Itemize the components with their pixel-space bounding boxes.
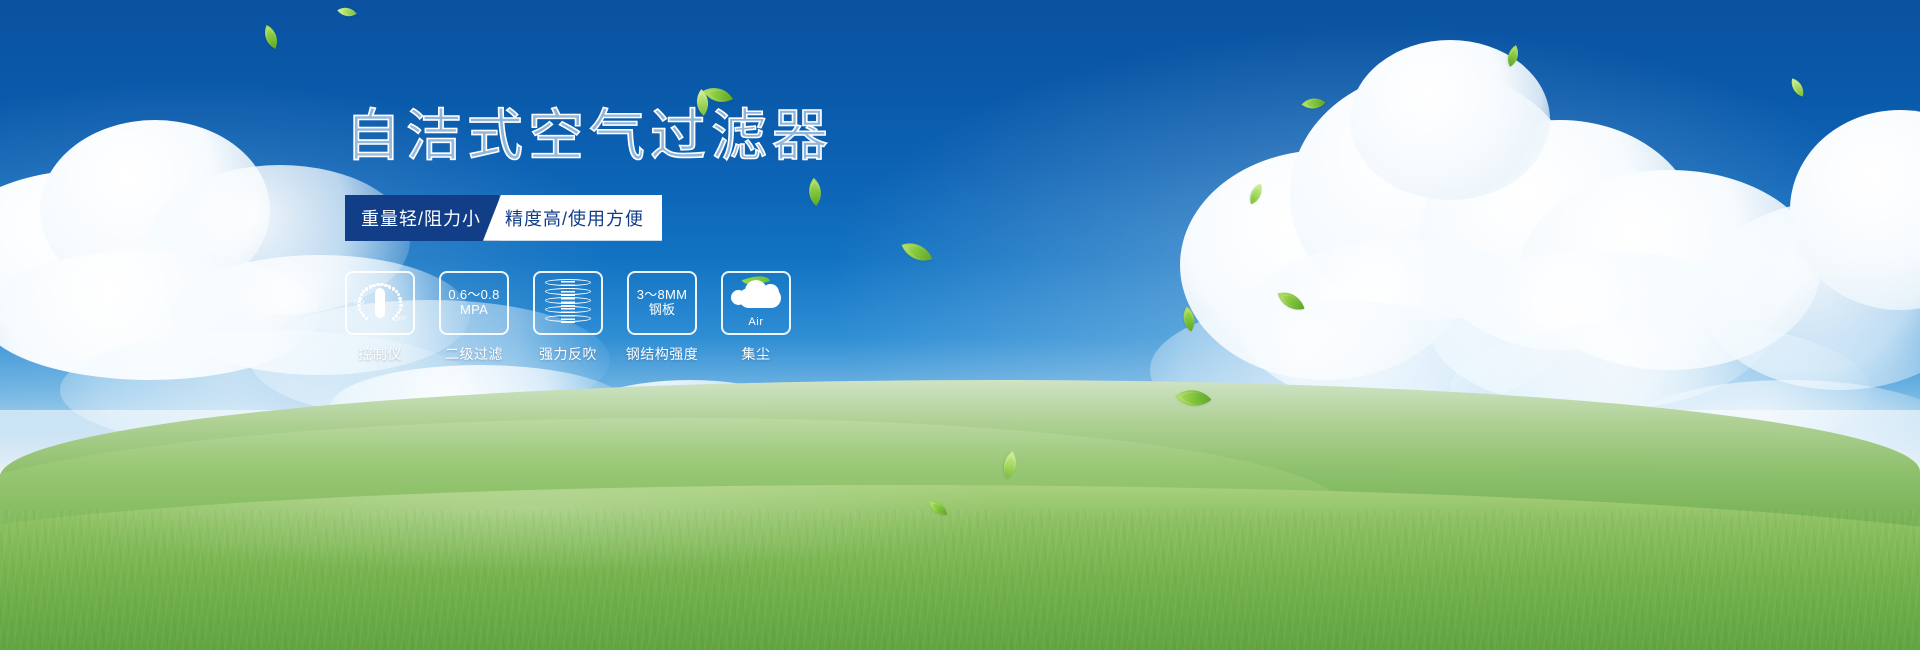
gauge-tick-dot <box>399 304 402 307</box>
pressure-unit: MPA <box>460 303 488 318</box>
feature-item-dust[interactable]: Air 集尘 <box>721 271 791 364</box>
cloud-notch-icon <box>749 284 758 293</box>
feature-label-control: 控制仪 <box>358 344 402 364</box>
grass-texture <box>0 510 1920 650</box>
gauge-tick-dot <box>388 285 391 288</box>
gauge-tick-dot <box>397 293 400 296</box>
air-cloud-icon <box>729 278 783 314</box>
feature-item-control[interactable]: NO OFF 控制仪 <box>345 271 415 364</box>
hero-banner: 自洁式空气过滤器 重量轻/阻力小 精度高/使用方便 NO OFF 控制仪 <box>0 0 1920 650</box>
feature-box-pressure: 0.6～0.8 MPA <box>439 271 509 335</box>
feature-label-dust: 集尘 <box>742 344 771 364</box>
gauge-tick-dot <box>369 285 372 288</box>
air-label: Air <box>748 316 763 328</box>
steel-material: 钢板 <box>649 303 676 318</box>
feature-item-steel[interactable]: 3～8MM 钢板 钢结构强度 <box>627 271 697 364</box>
feature-icon-row: NO OFF 控制仪 0.6～0.8 MPA 二级过滤 <box>345 271 1045 364</box>
pressure-value: 0.6～0.8 <box>448 288 499 303</box>
gauge-icon: NO OFF <box>356 281 404 325</box>
feature-box-dust: Air <box>721 271 791 335</box>
badge-secondary[interactable]: 精度高/使用方便 <box>483 195 662 241</box>
feature-item-backblow[interactable]: 强力反吹 <box>533 271 603 364</box>
gauge-needle-icon <box>375 288 385 318</box>
gauge-tick-dot <box>358 297 361 300</box>
title-leaf-decoration <box>693 80 737 114</box>
filter-stack-icon <box>545 279 591 327</box>
gauge-tick-dot <box>360 293 363 296</box>
gauge-tick-dot <box>399 300 402 303</box>
gauge-tick-dot <box>365 317 368 320</box>
feature-box-backblow <box>533 271 603 335</box>
gauge-tick-dot <box>365 287 368 290</box>
feature-item-pressure[interactable]: 0.6～0.8 MPA 二级过滤 <box>439 271 509 364</box>
gauge-tick-dot <box>376 283 379 286</box>
gauge-tick-dot <box>392 317 395 320</box>
banner-content: 自洁式空气过滤器 重量轻/阻力小 精度高/使用方便 NO OFF 控制仪 <box>345 108 1045 364</box>
page-title: 自洁式空气过滤器 <box>345 108 1045 167</box>
badge-primary[interactable]: 重量轻/阻力小 <box>345 195 499 241</box>
feature-label-backblow: 强力反吹 <box>539 344 597 364</box>
gauge-tick-dot <box>372 284 375 287</box>
grass-foreground <box>0 485 1920 650</box>
feature-box-steel: 3～8MM 钢板 <box>627 271 697 335</box>
gauge-tick-dot <box>357 304 360 307</box>
steel-thickness: 3～8MM <box>637 288 688 303</box>
gauge-tick-dot <box>384 284 387 287</box>
feature-label-steel: 钢结构强度 <box>626 344 699 364</box>
feature-label-pressure: 二级过滤 <box>445 344 503 364</box>
gauge-tick-dot <box>380 283 383 286</box>
badge-group: 重量轻/阻力小 精度高/使用方便 <box>345 195 675 241</box>
feature-box-control: NO OFF <box>345 271 415 335</box>
